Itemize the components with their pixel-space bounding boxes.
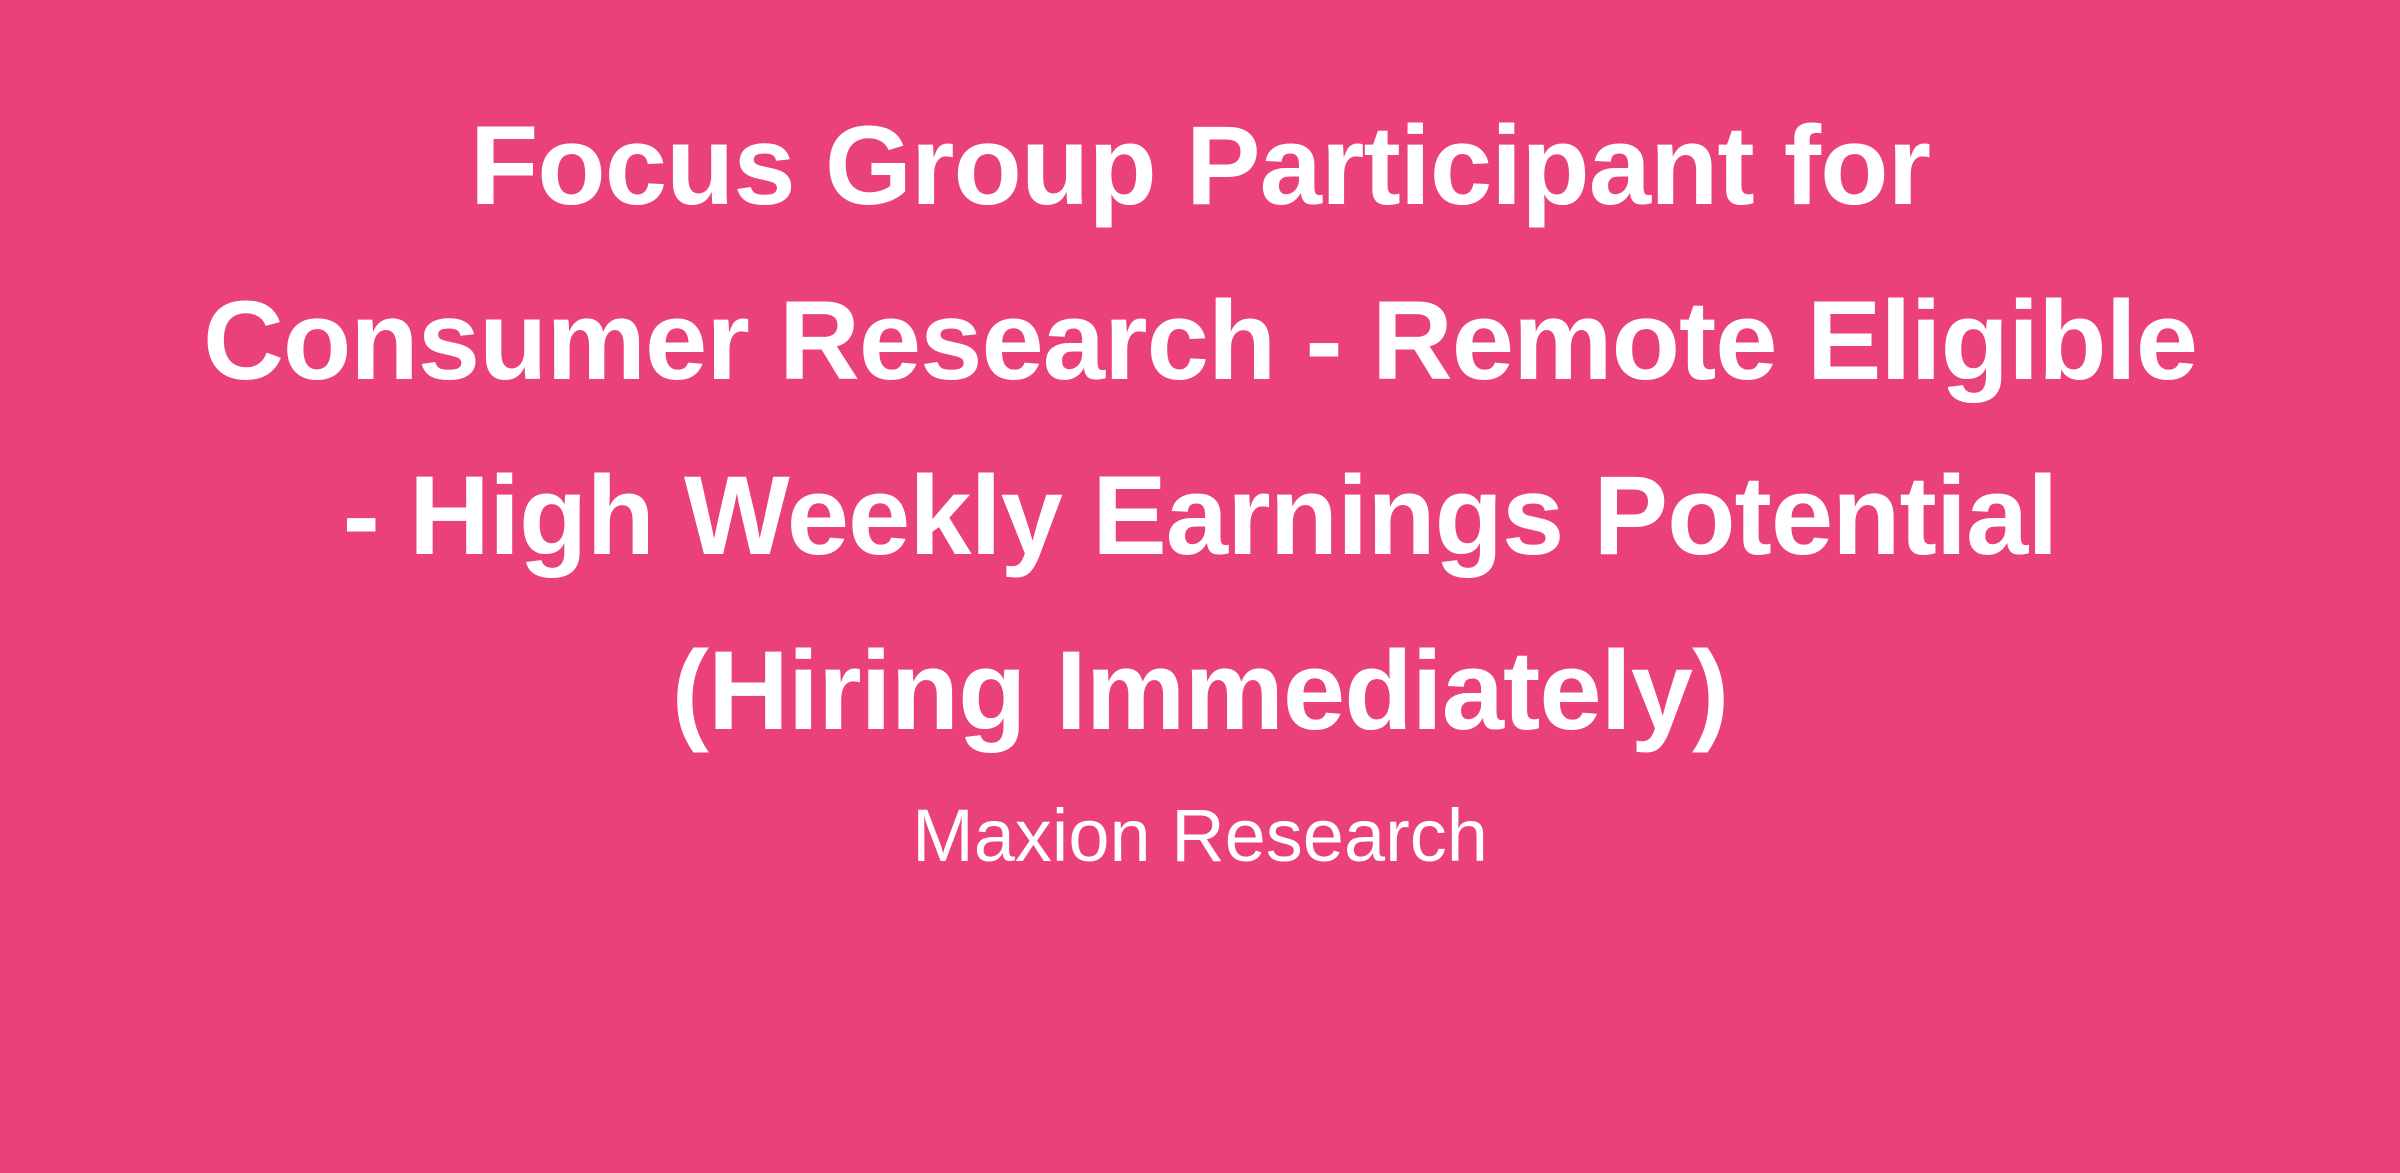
job-title: Focus Group Participant for Consumer Res… [200, 78, 2200, 778]
company-name: Maxion Research [912, 788, 1488, 884]
job-posting-card: Focus Group Participant for Consumer Res… [0, 0, 2400, 1173]
